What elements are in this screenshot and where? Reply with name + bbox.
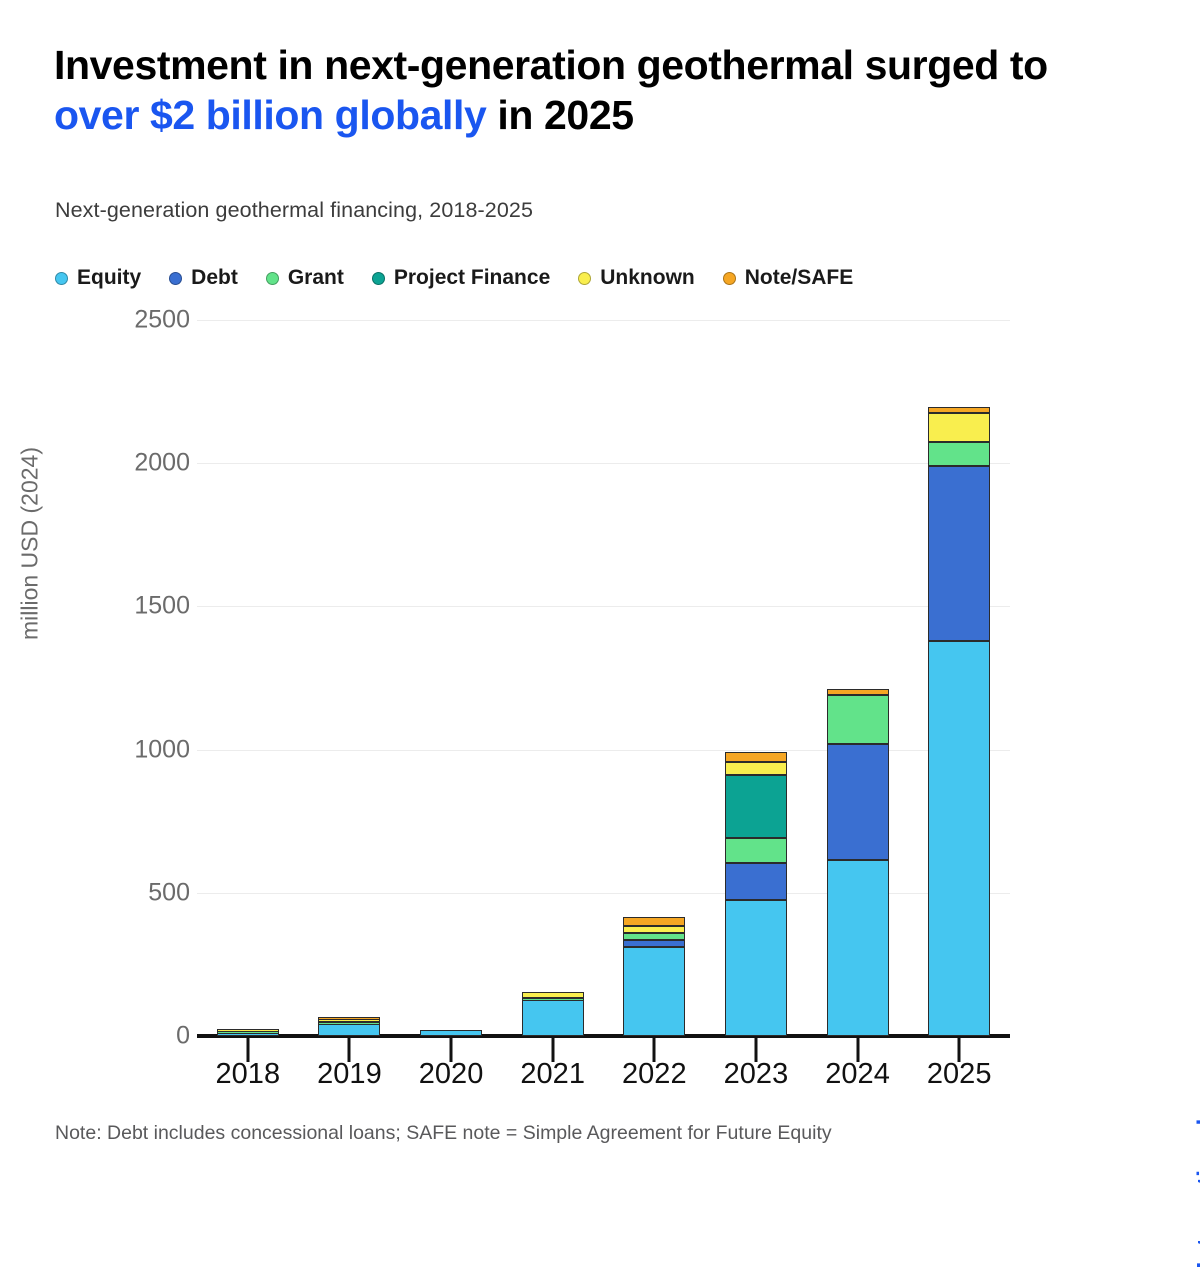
x-tick-label: 2024 xyxy=(825,1058,890,1091)
bar-segment-debt[interactable] xyxy=(827,744,889,860)
y-axis-ticks: 05001000150020002500 xyxy=(80,0,190,1200)
y-axis-label: million USD (2024) xyxy=(17,244,44,844)
bar-series-container: 20182019202020212022202320242025 xyxy=(197,0,1010,1200)
bar-group-2022[interactable]: 2022 xyxy=(604,0,706,1200)
bar-segment-note-safe[interactable] xyxy=(318,1017,380,1020)
bar-segment-unknown[interactable] xyxy=(522,992,584,998)
y-tick-label: 500 xyxy=(148,878,190,907)
x-tick-label: 2021 xyxy=(520,1058,585,1091)
chart-page: Investment in next-generation geothermal… xyxy=(0,0,1200,1200)
x-tick-label: 2018 xyxy=(216,1058,281,1091)
stacked-bar[interactable] xyxy=(522,0,584,1200)
stacked-bar[interactable] xyxy=(623,0,685,1200)
bar-segment-project-finance[interactable] xyxy=(725,775,787,838)
bar-segment-grant[interactable] xyxy=(522,998,584,1001)
bar-group-2019[interactable]: 2019 xyxy=(299,0,401,1200)
y-tick-label: 0 xyxy=(176,1022,190,1051)
bar-group-2023[interactable]: 2023 xyxy=(705,0,807,1200)
x-tick-label: 2019 xyxy=(317,1058,382,1091)
stacked-bar[interactable] xyxy=(827,0,889,1200)
bar-segment-debt[interactable] xyxy=(623,940,685,947)
y-tick-label: 1000 xyxy=(134,735,190,764)
bar-segment-equity[interactable] xyxy=(522,1000,584,1036)
bar-segment-equity[interactable] xyxy=(928,641,990,1036)
brand-line-1: International xyxy=(1194,1087,1200,1268)
stacked-bar[interactable] xyxy=(420,0,482,1200)
bar-segment-grant[interactable] xyxy=(725,838,787,862)
y-tick-label: 1500 xyxy=(134,592,190,621)
bar-group-2020[interactable]: 2020 xyxy=(400,0,502,1200)
bar-segment-debt[interactable] xyxy=(928,466,990,641)
bar-segment-equity[interactable] xyxy=(318,1023,380,1036)
x-tick-label: 2023 xyxy=(724,1058,789,1091)
bar-segment-unknown[interactable] xyxy=(725,762,787,775)
bar-segment-equity[interactable] xyxy=(623,947,685,1036)
bar-segment-note-safe[interactable] xyxy=(623,917,685,926)
bar-segment-note-safe[interactable] xyxy=(827,689,889,695)
stacked-bar[interactable] xyxy=(318,0,380,1200)
iea-branding: International Energy Agency xyxy=(1022,1082,1192,1142)
bar-segment-unknown[interactable] xyxy=(623,926,685,933)
bar-segment-unknown[interactable] xyxy=(928,413,990,442)
chart-footnote: Note: Debt includes concessional loans; … xyxy=(55,1122,832,1145)
bar-segment-note-safe[interactable] xyxy=(725,752,787,762)
y-tick-label: 2500 xyxy=(134,306,190,335)
y-tick-label: 2000 xyxy=(134,449,190,478)
bar-group-2024[interactable]: 2024 xyxy=(807,0,909,1200)
bar-segment-debt[interactable] xyxy=(725,863,787,900)
bar-segment-equity[interactable] xyxy=(725,900,787,1036)
bar-group-2018[interactable]: 2018 xyxy=(197,0,299,1200)
stacked-bar[interactable] xyxy=(217,0,279,1200)
bar-segment-grant[interactable] xyxy=(827,695,889,744)
stacked-bar[interactable] xyxy=(725,0,787,1200)
x-tick-label: 2020 xyxy=(419,1058,484,1091)
x-tick-label: 2022 xyxy=(622,1058,687,1091)
plot-area: million USD (2024) 05001000150020002500 … xyxy=(0,0,1200,1200)
bar-segment-note-safe[interactable] xyxy=(928,407,990,413)
bar-segment-grant[interactable] xyxy=(318,1022,380,1025)
bar-segment-grant[interactable] xyxy=(623,933,685,940)
bar-group-2021[interactable]: 2021 xyxy=(502,0,604,1200)
bar-segment-equity[interactable] xyxy=(827,860,889,1036)
bar-segment-grant[interactable] xyxy=(928,442,990,466)
bar-group-2025[interactable]: 2025 xyxy=(908,0,1010,1200)
stacked-bar[interactable] xyxy=(928,0,990,1200)
x-tick-label: 2025 xyxy=(927,1058,992,1091)
bar-segment-unknown[interactable] xyxy=(217,1029,279,1032)
